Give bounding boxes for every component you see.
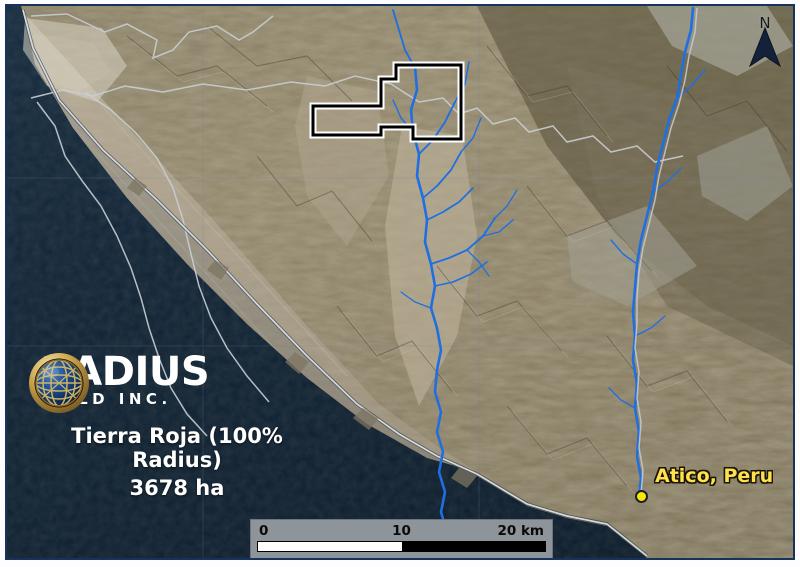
scale-label-min: 0 — [259, 523, 268, 539]
scale-bar-track — [257, 541, 546, 552]
scale-label-max: 20 km — [497, 523, 544, 539]
map-frame: N Atico, Peru — [5, 4, 795, 560]
map-figure: N Atico, Peru — [0, 0, 800, 567]
map-imagery — [7, 6, 793, 558]
scale-label-mid: 10 — [392, 523, 411, 539]
scale-bar-labels: 0 10 20 km — [257, 523, 546, 541]
scale-bar: 0 10 20 km — [250, 519, 553, 558]
city-dot-icon[interactable] — [635, 490, 648, 503]
scale-segment-2 — [402, 542, 546, 551]
satellite-map-canvas[interactable]: N Atico, Peru — [7, 6, 793, 558]
scale-segment-1 — [258, 542, 402, 551]
